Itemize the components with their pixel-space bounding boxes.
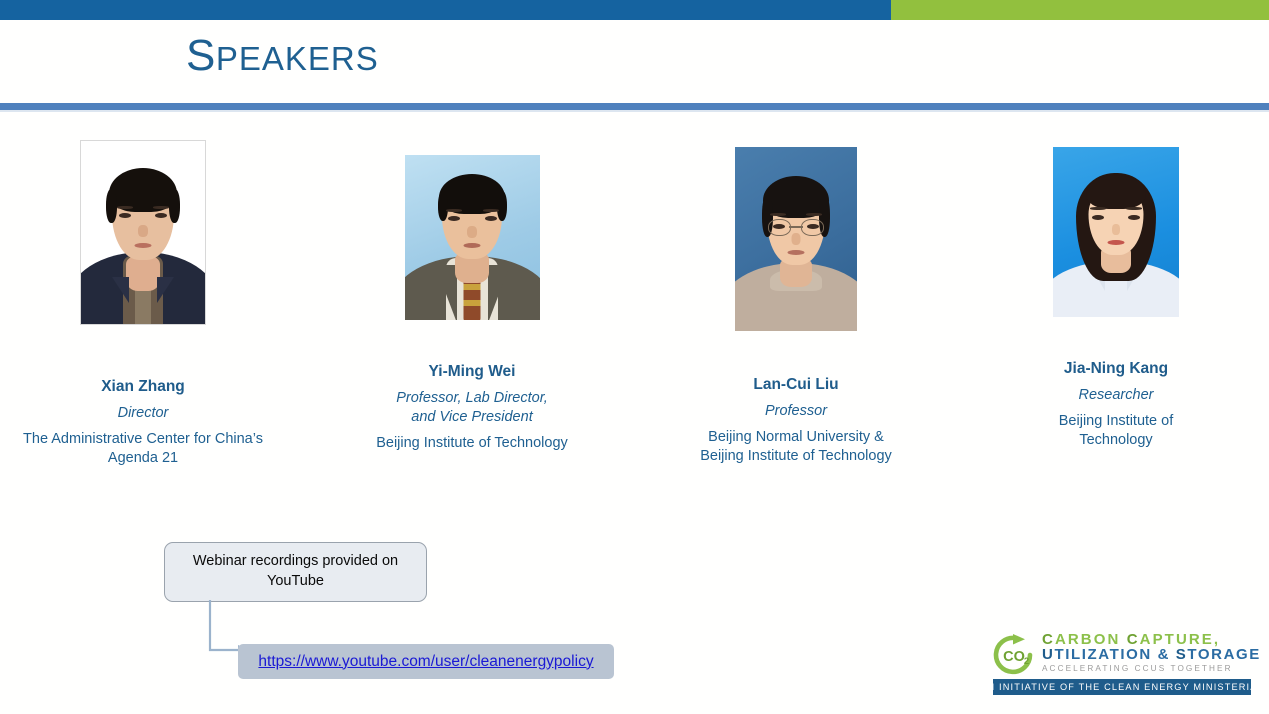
page-title-initial: S xyxy=(186,31,216,80)
page-title: SPEAKERS xyxy=(186,34,379,78)
logo-line-1: CARBON CAPTURE, xyxy=(1042,632,1261,647)
header-blue-bar xyxy=(0,0,891,20)
speaker-name: Xian Zhang xyxy=(13,377,273,398)
slide-canvas: SPEAKERS xyxy=(0,0,1269,714)
portrait-lan-cui-liu xyxy=(735,147,857,331)
page-title-rest: PEAKERS xyxy=(216,40,379,77)
speaker-photo-wrap-4 xyxy=(986,147,1246,317)
speaker-photo-wrap-1 xyxy=(13,140,273,325)
speaker-organization: Beijing Normal University & Beijing Inst… xyxy=(666,428,926,467)
speaker-name: Jia-Ning Kang xyxy=(986,359,1246,380)
logo-initiative-bar: AN INITIATIVE OF THE CLEAN ENERGY MINIST… xyxy=(993,679,1251,695)
logo-line-2: UTILIZATION & STORAGE xyxy=(1042,647,1261,663)
speaker-role: Director xyxy=(13,404,273,423)
speaker-role: Professor xyxy=(666,402,926,421)
speaker-organization: The Administrative Center for China’s Ag… xyxy=(13,430,273,469)
logo-top-row: CO 2 CARBON CAPTURE, UTILIZATION & STORA… xyxy=(993,632,1251,676)
speaker-role: Professor, Lab Director, and Vice Presid… xyxy=(342,389,602,428)
webinar-recordings-callout: Webinar recordings provided on YouTube xyxy=(164,542,427,602)
svg-text:CO: CO xyxy=(1003,649,1025,665)
speaker-card-1: Xian Zhang Director The Administrative C… xyxy=(13,140,273,469)
speaker-name: Yi-Ming Wei xyxy=(342,362,602,383)
speaker-role: Researcher xyxy=(986,386,1246,405)
youtube-link-chip[interactable]: https://www.youtube.com/user/cleanenergy… xyxy=(238,644,614,679)
speaker-card-2: Yi-Ming Wei Professor, Lab Director, and… xyxy=(342,140,602,454)
portrait-jia-ning-kang xyxy=(1053,147,1179,317)
logo-wordmark: CARBON CAPTURE, UTILIZATION & STORAGE AC… xyxy=(1042,632,1261,675)
ccus-logo: CO 2 CARBON CAPTURE, UTILIZATION & STORA… xyxy=(993,632,1251,700)
header-divider-rule xyxy=(0,103,1269,110)
header-divider-shadow xyxy=(0,110,1269,112)
portrait-yi-ming-wei xyxy=(405,155,540,320)
speaker-card-3: Lan-Cui Liu Professor Beijing Normal Uni… xyxy=(666,140,926,467)
speaker-name: Lan-Cui Liu xyxy=(666,375,926,396)
speaker-card-4: Jia-Ning Kang Researcher Beijing Institu… xyxy=(986,140,1246,451)
svg-text:2: 2 xyxy=(1024,656,1029,667)
speaker-photo-wrap-3 xyxy=(666,147,926,331)
speaker-photo-wrap-2 xyxy=(342,155,602,320)
portrait-xian-zhang xyxy=(80,140,206,325)
header-green-bar xyxy=(891,0,1269,20)
logo-tagline: ACCELERATING CCUS TOGETHER xyxy=(1042,663,1261,675)
speaker-organization: Beijing Institute of Technology xyxy=(986,412,1246,451)
co2-circular-arrow-icon: CO 2 xyxy=(993,634,1037,676)
speaker-organization: Beijing Institute of Technology xyxy=(342,434,602,453)
callout-text: Webinar recordings provided on YouTube xyxy=(179,552,412,591)
youtube-channel-link[interactable]: https://www.youtube.com/user/cleanenergy… xyxy=(258,653,593,671)
